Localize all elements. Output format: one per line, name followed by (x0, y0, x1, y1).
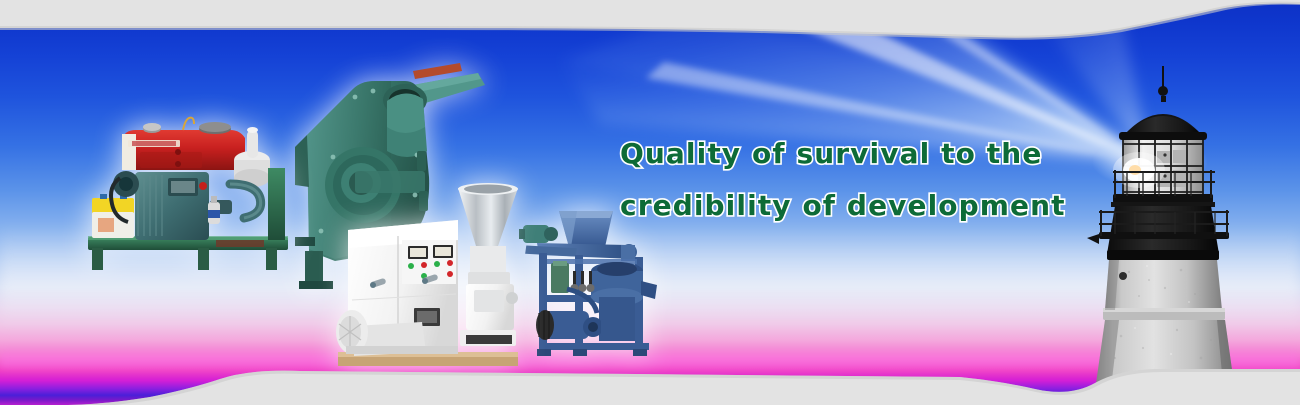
lighthouse (1085, 58, 1300, 405)
tagline-line-1: Quality of survival to the (620, 128, 1090, 180)
promo-banner: Quality of survival to the credibility o… (0, 0, 1300, 405)
diesel-engine (80, 112, 295, 287)
tagline: Quality of survival to the credibility o… (620, 128, 1090, 232)
tagline-line-2: credibility of development (620, 180, 1090, 232)
pellet-mill (330, 180, 525, 375)
